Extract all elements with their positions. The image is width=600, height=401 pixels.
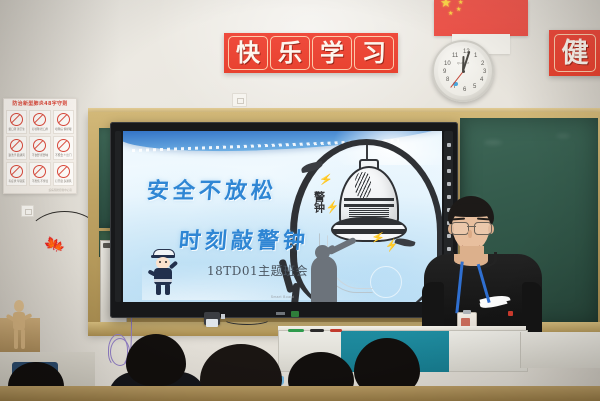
poster-cell-caption: 打开窗 多通风 <box>55 179 71 183</box>
slide-subtitle: 18TD01主题班会 <box>207 262 308 279</box>
prohibition-icon <box>33 139 46 152</box>
glasses-bridge <box>467 226 476 227</box>
right-desk-section <box>520 332 600 368</box>
wall-banner-right: 健 <box>549 30 600 76</box>
tray-cable <box>223 313 271 325</box>
poster-cell: 喷嚏后 慎揉眼 <box>53 110 74 134</box>
banner-char-1: 快 <box>228 36 268 70</box>
police-uniform <box>154 268 172 285</box>
glasses-lens-right <box>474 222 492 235</box>
figure-pulling-bell-rope <box>311 256 337 302</box>
clock-numeral-4: 4 <box>480 77 483 83</box>
police-eye <box>159 261 161 263</box>
flag-star-small-2: ★ <box>458 0 463 6</box>
badge-clip <box>463 310 471 314</box>
tray-device-panel <box>206 319 218 327</box>
presentation-slide[interactable]: 警钟 ⚡ ⚡ ⚡ ⚡ <box>123 131 442 302</box>
smartboard-button[interactable] <box>447 169 451 173</box>
poster-title: 防治新型肺炎48字守则 <box>6 102 74 107</box>
prohibition-icon <box>10 139 23 152</box>
flag-star-large: ★ <box>440 0 452 9</box>
banner-char-3: 学 <box>312 36 352 70</box>
poster-cell: 不恐慌 不传谣 <box>29 162 50 186</box>
bell-hatching <box>355 172 371 198</box>
clock-numeral-6: 6 <box>463 87 466 93</box>
police-leg <box>165 284 170 295</box>
smartboard-button[interactable] <box>447 143 451 147</box>
prohibition-icon <box>57 139 70 152</box>
flag-star-small-3: ★ <box>456 7 461 13</box>
mannequin-leg <box>14 329 18 349</box>
marker-black[interactable] <box>310 329 324 332</box>
prohibition-icon <box>57 113 70 126</box>
poster-cell-caption: 不恐慌 不传谣 <box>32 179 48 183</box>
bell-label-text: 警钟 <box>313 191 325 213</box>
banner-char-4: 习 <box>354 36 394 70</box>
lightning-bolt-icon: ⚡ <box>325 202 340 215</box>
flag-star-small-4: ★ <box>448 11 453 17</box>
prohibition-icon <box>10 113 23 126</box>
wooden-artist-mannequin <box>8 300 30 352</box>
cartoon-traffic-police-icon <box>148 249 178 295</box>
tray-small-item <box>276 312 285 315</box>
poster-cell-caption: 打喷嚏 捂口鼻 <box>32 127 48 131</box>
seated-student-head <box>126 334 186 386</box>
purple-cord-hanging <box>108 334 128 366</box>
chalk-smudge <box>484 140 502 145</box>
health-guidelines-poster: 防治新型肺炎48字守则 戴口罩 讲卫生 打喷嚏 捂口鼻 喷嚏后 慎揉眼 勤洗手 … <box>3 98 77 194</box>
police-saluting-arm <box>169 261 178 270</box>
poster-cell: 戴口罩 讲卫生 <box>6 110 27 134</box>
tray-green-indicator <box>291 311 299 317</box>
prohibition-icon <box>57 165 70 178</box>
clock-center-pin <box>462 70 465 73</box>
clock-numeral-8: 8 <box>446 77 449 83</box>
clock-numeral-10: 10 <box>444 61 451 67</box>
bell-band <box>344 204 394 207</box>
wooden-ledge <box>0 386 600 401</box>
wall-clock: 12 1 2 3 4 5 6 7 8 9 10 11 QUARTZ <box>432 40 494 102</box>
police-eye <box>165 261 167 263</box>
chinese-national-flag: ★ ★ ★ ★ ★ <box>434 0 528 36</box>
nike-swoosh-logo-shadow <box>480 300 510 309</box>
clock-numeral-1: 1 <box>474 53 477 59</box>
interactive-smartboard[interactable]: 警钟 ⚡ ⚡ ⚡ ⚡ <box>110 122 458 318</box>
poster-cell: 有症状 早就医 <box>6 162 27 186</box>
poster-cell-caption: 不食野 拒野味 <box>32 153 48 157</box>
poster-cell-caption: 有症状 早就医 <box>9 179 25 183</box>
slide-title-line-2: 时刻敲警钟 <box>178 223 311 255</box>
classroom-photo: ★ ★ ★ ★ ★ 快 乐 学 习 健 12 1 2 3 4 5 6 7 8 9… <box>0 0 600 401</box>
wall-banner-happy-learning: 快 乐 学 习 <box>224 33 398 73</box>
prohibition-icon <box>10 165 23 178</box>
bell-inner-lines <box>349 208 389 217</box>
poster-icon-grid: 戴口罩 讲卫生 打喷嚏 捂口鼻 喷嚏后 慎揉眼 勤洗手 勤通风 不食野 拒野味 … <box>6 110 74 186</box>
clock-numeral-11: 11 <box>452 53 458 59</box>
shirt-tag <box>508 311 513 316</box>
smartboard-button[interactable] <box>447 156 451 160</box>
poster-cell: 打开窗 多通风 <box>53 162 74 186</box>
clock-numeral-3: 3 <box>483 69 486 75</box>
banner-right-char-1: 健 <box>554 34 596 72</box>
poster-cell-caption: 喷嚏后 慎揉眼 <box>55 127 71 131</box>
presenter-nose <box>468 230 472 238</box>
smartboard-brand-label: Smart Board <box>271 295 294 299</box>
slide-title-line-1: 安全不放松 <box>146 173 279 205</box>
poster-footer: 疾病预防控制中心宣 <box>6 188 74 192</box>
wall-socket-upper <box>232 93 247 107</box>
police-leg <box>156 284 161 295</box>
lightning-bolt-icon: ⚡ <box>318 174 333 187</box>
police-belt <box>154 279 172 282</box>
clock-face: 12 1 2 3 4 5 6 7 8 9 10 11 QUARTZ <box>438 46 488 96</box>
poster-cell: 勤洗手 勤通风 <box>6 136 27 160</box>
smartboard-left-bezel-strip <box>115 131 121 302</box>
prohibition-icon <box>33 113 46 126</box>
smartboard-button[interactable] <box>447 182 451 186</box>
banner-char-2: 乐 <box>270 36 310 70</box>
clock-numeral-2: 2 <box>481 61 484 67</box>
bell-band <box>344 198 394 201</box>
poster-cell-caption: 戴口罩 讲卫生 <box>9 127 25 131</box>
glasses-lens-left <box>451 222 469 235</box>
clock-numeral-9: 9 <box>443 69 446 75</box>
poster-cell: 打喷嚏 捂口鼻 <box>29 110 50 134</box>
wall-socket-left <box>21 205 34 217</box>
marker-green[interactable] <box>288 329 304 332</box>
poster-cell-caption: 勤洗手 勤通风 <box>9 153 25 157</box>
mannequin-leg <box>21 329 25 349</box>
clock-numeral-5: 5 <box>473 84 476 90</box>
poster-cell: 不食野 拒野味 <box>29 136 50 160</box>
poster-cell: 不聚会 少出门 <box>53 136 74 160</box>
prohibition-icon <box>33 165 46 178</box>
poster-cell-caption: 不聚会 少出门 <box>55 153 71 157</box>
chalk-smudge <box>556 134 570 138</box>
mannequin-head <box>14 300 24 312</box>
marker-red[interactable] <box>330 329 342 332</box>
